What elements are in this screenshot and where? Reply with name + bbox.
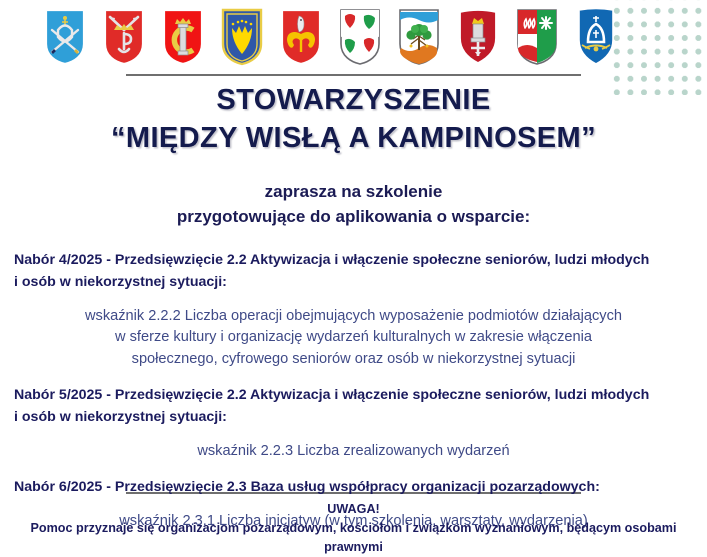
- section-heading-line-1: Nabór 6/2025 - Przedsięwzięcie 2.3 Baza …: [0, 477, 707, 497]
- coat-of-arms-row: [0, 8, 707, 70]
- shield-icon-crest-stare-babice: [280, 8, 322, 66]
- section-nabor-5: Nabór 5/2025 - Przedsięwzięcie 2.2 Aktyw…: [0, 385, 707, 462]
- shield-icon-crest-leoncin: [103, 8, 145, 66]
- footer-line-1: Pomoc przyznaje się organizacjom pozarzą…: [0, 519, 707, 557]
- indicator-line: w sferze kultury i organizację wydarzeń …: [0, 327, 707, 348]
- section-heading-line-2: i osób w niekorzystnej sytuacji:: [0, 272, 707, 292]
- shield-icon-crest-czosnow: [162, 8, 204, 66]
- title-line-1: STOWARZYSZENIE: [0, 82, 707, 120]
- shield-icon-crest-kampinos: [457, 8, 499, 66]
- subtitle-line-1: zaprasza na szkolenie: [0, 180, 707, 205]
- footer-note: UWAGA! Pomoc przyznaje się organizacjom …: [0, 500, 707, 557]
- shield-icon-crest-brochow: [575, 8, 617, 66]
- shield-icon-crest-ozarow: [516, 8, 558, 66]
- shield-icon-crest-lomianki: [221, 8, 263, 66]
- divider-top: [126, 74, 581, 76]
- subtitle-line-2: przygotowujące do aplikowania o wsparcie…: [0, 205, 707, 230]
- poster-canvas: STOWARZYSZENIE “MIĘDZY WISŁĄ A KAMPINOSE…: [0, 0, 707, 557]
- sections-list: Nabór 4/2025 - Przedsięwzięcie 2.2 Aktyw…: [0, 250, 707, 533]
- indicator-line: społecznego, cyfrowego seniorów oraz osó…: [0, 349, 707, 370]
- title-line-2: “MIĘDZY WISŁĄ A KAMPINOSEM”: [0, 120, 707, 158]
- section-heading-line-1: Nabór 4/2025 - Przedsięwzięcie 2.2 Aktyw…: [0, 250, 707, 270]
- page-title: STOWARZYSZENIE “MIĘDZY WISŁĄ A KAMPINOSE…: [0, 82, 707, 157]
- shield-icon-crest-blonie: [339, 8, 381, 66]
- shield-icon-crest-leszno: [398, 8, 440, 66]
- footer-heading: UWAGA!: [0, 500, 707, 519]
- shield-icon-crest-izabelin: [44, 8, 86, 66]
- indicator-line: wskaźnik 2.2.2 Liczba operacji obejmując…: [0, 306, 707, 327]
- section-nabor-4: Nabór 4/2025 - Przedsięwzięcie 2.2 Aktyw…: [0, 250, 707, 370]
- indicator-line: wskaźnik 2.2.3 Liczba zrealizowanych wyd…: [0, 441, 707, 462]
- section-heading-line-2: i osób w niekorzystnej sytuacji:: [0, 407, 707, 427]
- section-heading-line-1: Nabór 5/2025 - Przedsięwzięcie 2.2 Aktyw…: [0, 385, 707, 405]
- subtitle: zaprasza na szkolenie przygotowujące do …: [0, 180, 707, 229]
